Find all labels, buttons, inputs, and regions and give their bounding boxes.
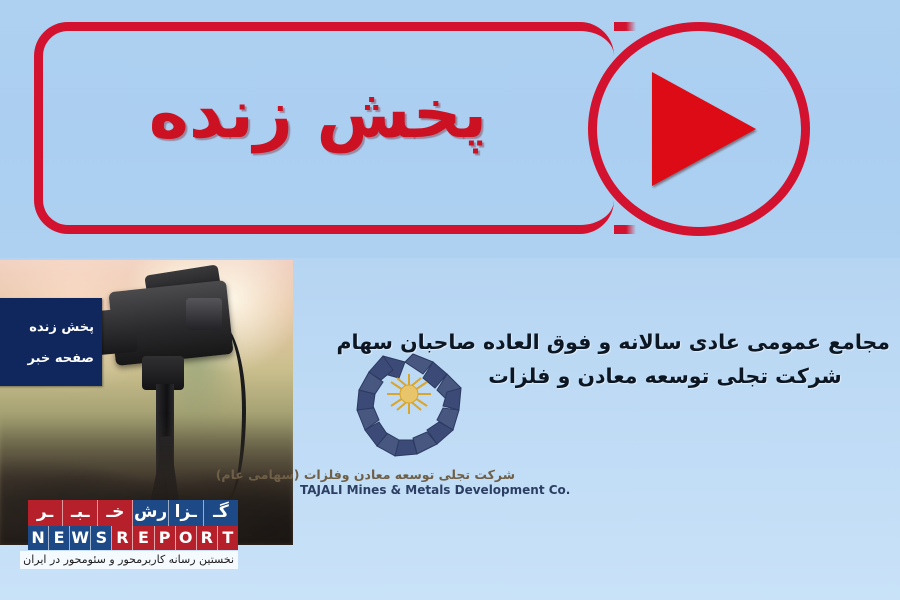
live-broadcast-label: پخش زنده (128, 72, 508, 157)
watermark-en-cell: R (197, 526, 218, 550)
heading-line-1: مجامع عمومی عادی سالانه و فوق العاده صاح… (440, 326, 890, 360)
overlay-line-newspage: صفحه خبر (0, 343, 94, 374)
watermark-en-cell: P (155, 526, 176, 550)
event-details-section: پخش زنده صفحه خبر گـ ـزا رش خـ ـبـ ـر N … (0, 258, 900, 600)
heading-line-2: شرکت تجلی توسعه معادن و فلزات (440, 360, 890, 394)
watermark-en-cell: E (49, 526, 70, 550)
watermark-en-cell: R (112, 526, 133, 550)
watermark-fa-cell: خـ (98, 500, 133, 526)
play-triangle-icon (652, 72, 756, 186)
watermark-en-cell: O (176, 526, 197, 550)
logo-english-name: TAJALI Mines & Metals Development Co. (300, 483, 515, 497)
watermark-fa-cell: ـزا (169, 500, 204, 526)
logo-persian-name: شرکت تجلی توسعه معادن وفلزات (سهامی عام) (300, 467, 515, 482)
watermark-fa-cell: ـر (28, 500, 63, 526)
watermark-en-cell: S (91, 526, 112, 550)
watermark-en-cell: W (70, 526, 91, 550)
watermark-tagline: نخستین رسانه کاربرمحور و سئومحور در ایرا… (20, 551, 238, 569)
overlay-line-live: پخش زنده (0, 312, 94, 343)
event-heading: مجامع عمومی عادی سالانه و فوق العاده صاح… (440, 326, 890, 394)
watermark-fa-cell: رش (133, 500, 168, 526)
live-banner: پخش زنده (0, 0, 900, 258)
watermark-fa-cell: گـ (204, 500, 238, 526)
watermark-en-cell: E (133, 526, 154, 550)
watermark-english-row: N E W S R E P O R T (28, 526, 238, 550)
watermark-persian-row: گـ ـزا رش خـ ـبـ ـر (28, 500, 238, 526)
newsreport-watermark: گـ ـزا رش خـ ـبـ ـر N E W S R E P O R T … (28, 500, 238, 569)
watermark-en-cell: T (218, 526, 238, 550)
camera-viewfinder (186, 298, 222, 330)
play-button[interactable] (588, 22, 810, 236)
watermark-en-cell: N (28, 526, 49, 550)
watermark-fa-cell: ـبـ (63, 500, 98, 526)
photo-overlay-box: پخش زنده صفحه خبر (0, 298, 102, 386)
live-broadcast-poster: پخش زنده پخش زنده صفحه خبر (0, 0, 900, 600)
